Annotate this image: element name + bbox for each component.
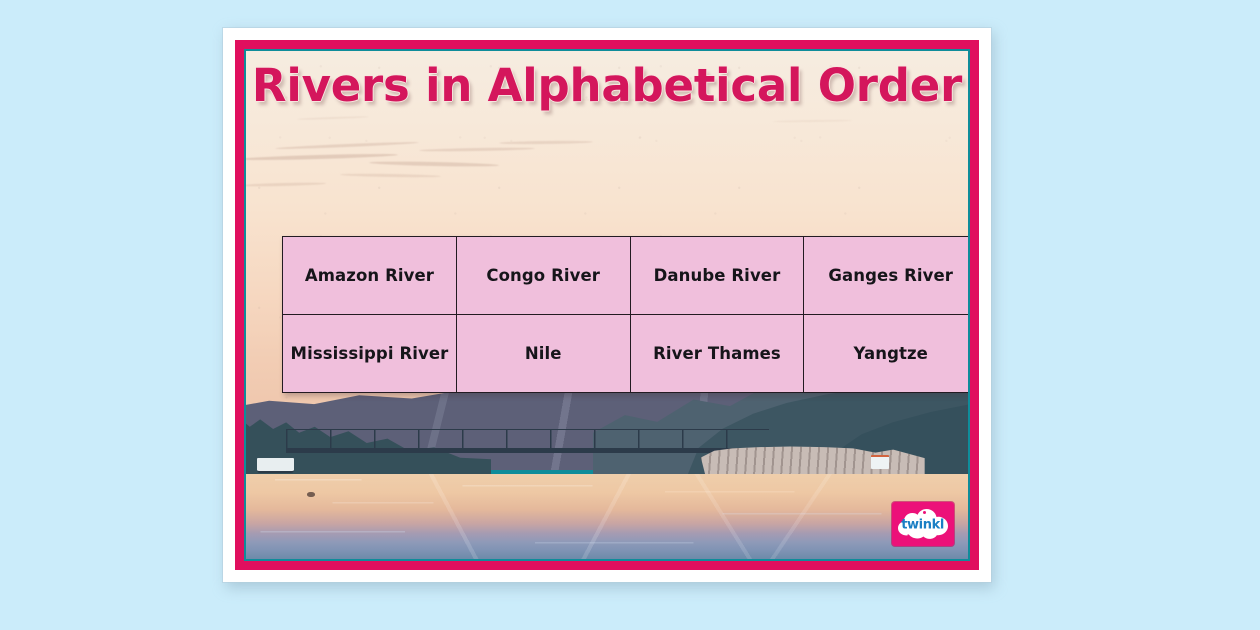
table-row: Mississippi River Nile River Thames Yang… — [283, 314, 968, 392]
word-card-yangtze[interactable]: Yangtze — [804, 314, 968, 392]
word-card-amazon-river[interactable]: Amazon River — [283, 236, 457, 314]
word-card-ganges-river[interactable]: Ganges River — [804, 236, 968, 314]
word-card-table: Amazon River Congo River Danube River Ga… — [282, 236, 968, 393]
poster-content-area: Rivers in Alphabetical Order Amazon Rive… — [246, 51, 968, 559]
word-card-nile[interactable]: Nile — [456, 314, 630, 392]
screenshot-canvas: Rivers in Alphabetical Order Amazon Rive… — [0, 0, 1260, 630]
word-card-river-thames[interactable]: River Thames — [630, 314, 804, 392]
page-title: Rivers in Alphabetical Order — [246, 59, 968, 112]
rail-bridge-truss — [286, 429, 770, 448]
word-card-danube-river[interactable]: Danube River — [630, 236, 804, 314]
word-card-congo-river[interactable]: Congo River — [456, 236, 630, 314]
table-row: Amazon River Congo River Danube River Ga… — [283, 236, 968, 314]
boat-left — [257, 458, 295, 472]
boat-right — [871, 455, 890, 468]
rail-bridge-deck — [286, 448, 770, 453]
water-ripple-lines — [246, 474, 968, 559]
river-water — [246, 474, 968, 559]
water-buoy — [307, 492, 314, 497]
twinkl-wordmark: twinkl — [901, 517, 944, 532]
word-card-mississippi-river[interactable]: Mississippi River — [283, 314, 457, 392]
twinkl-logo[interactable]: twinkl — [892, 502, 954, 546]
